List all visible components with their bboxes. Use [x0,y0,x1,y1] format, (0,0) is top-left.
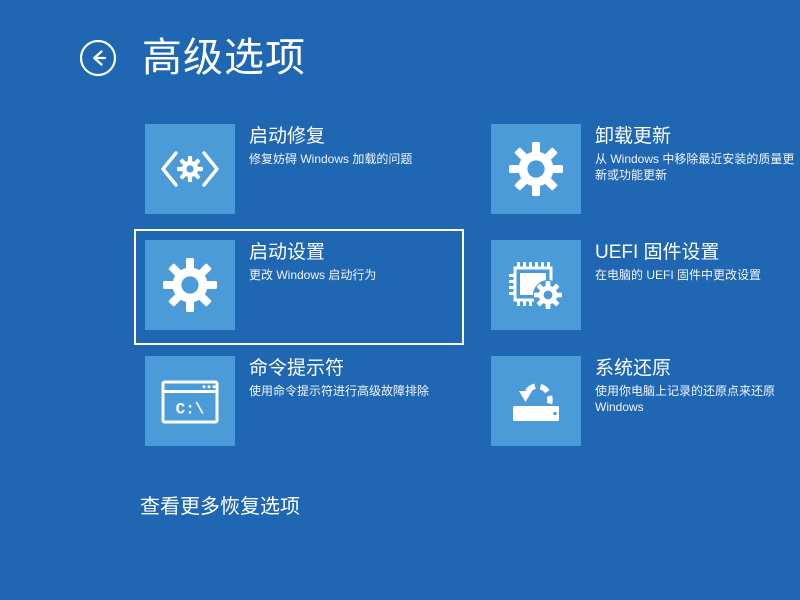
uninstall-updates-gear-icon [491,124,581,214]
tile-title: UEFI 固件设置 [595,241,761,265]
tile-uefi-firmware-settings[interactable]: UEFI 固件设置 在电脑的 UEFI 固件中更改设置 [480,229,800,345]
tile-text: 命令提示符 使用命令提示符进行高级故障排除 [235,356,429,399]
tile-description: 使用你电脑上记录的还原点来还原 Windows [595,383,799,415]
tile-description: 从 Windows 中移除最近安装的质量更新或功能更新 [595,151,799,183]
back-arrow-circle-icon[interactable] [78,38,118,78]
tile-startup-repair[interactable]: 启动修复 修复妨碍 Windows 加载的问题 [134,113,464,229]
page-title: 高级选项 [142,38,306,78]
tile-text: 启动修复 修复妨碍 Windows 加载的问题 [235,124,412,167]
tile-description: 使用命令提示符进行高级故障排除 [249,383,429,399]
tile-description: 在电脑的 UEFI 固件中更改设置 [595,267,761,283]
tile-description: 修复妨碍 Windows 加载的问题 [249,151,412,167]
tile-text: 启动设置 更改 Windows 启动行为 [235,240,376,283]
tile-command-prompt[interactable]: C:\ 命令提示符 使用命令提示符进行高级故障排除 [134,345,464,461]
tile-title: 启动设置 [249,241,376,265]
see-more-recovery-options-link[interactable]: 查看更多恢复选项 [140,490,300,519]
tile-title: 系统还原 [595,357,799,381]
tile-title: 卸载更新 [595,125,799,149]
system-restore-icon [491,356,581,446]
svg-text:C:\: C:\ [176,401,205,419]
options-column-right: 卸载更新 从 Windows 中移除最近安装的质量更新或功能更新 [480,113,800,461]
startup-repair-icon [145,124,235,214]
options-column-left: 启动修复 修复妨碍 Windows 加载的问题 [134,113,464,461]
command-prompt-icon: C:\ [145,356,235,446]
startup-settings-gear-icon [145,240,235,330]
tile-text: UEFI 固件设置 在电脑的 UEFI 固件中更改设置 [581,240,761,283]
tile-description: 更改 Windows 启动行为 [249,267,376,283]
uefi-firmware-chip-icon [491,240,581,330]
tile-title: 启动修复 [249,125,412,149]
tile-startup-settings[interactable]: 启动设置 更改 Windows 启动行为 [134,229,464,345]
tile-title: 命令提示符 [249,357,429,381]
tile-text: 卸载更新 从 Windows 中移除最近安装的质量更新或功能更新 [581,124,799,183]
tile-text: 系统还原 使用你电脑上记录的还原点来还原 Windows [581,356,799,415]
tile-uninstall-updates[interactable]: 卸载更新 从 Windows 中移除最近安装的质量更新或功能更新 [480,113,800,229]
tile-system-restore[interactable]: 系统还原 使用你电脑上记录的还原点来还原 Windows [480,345,800,461]
page-header: 高级选项 [78,38,306,78]
